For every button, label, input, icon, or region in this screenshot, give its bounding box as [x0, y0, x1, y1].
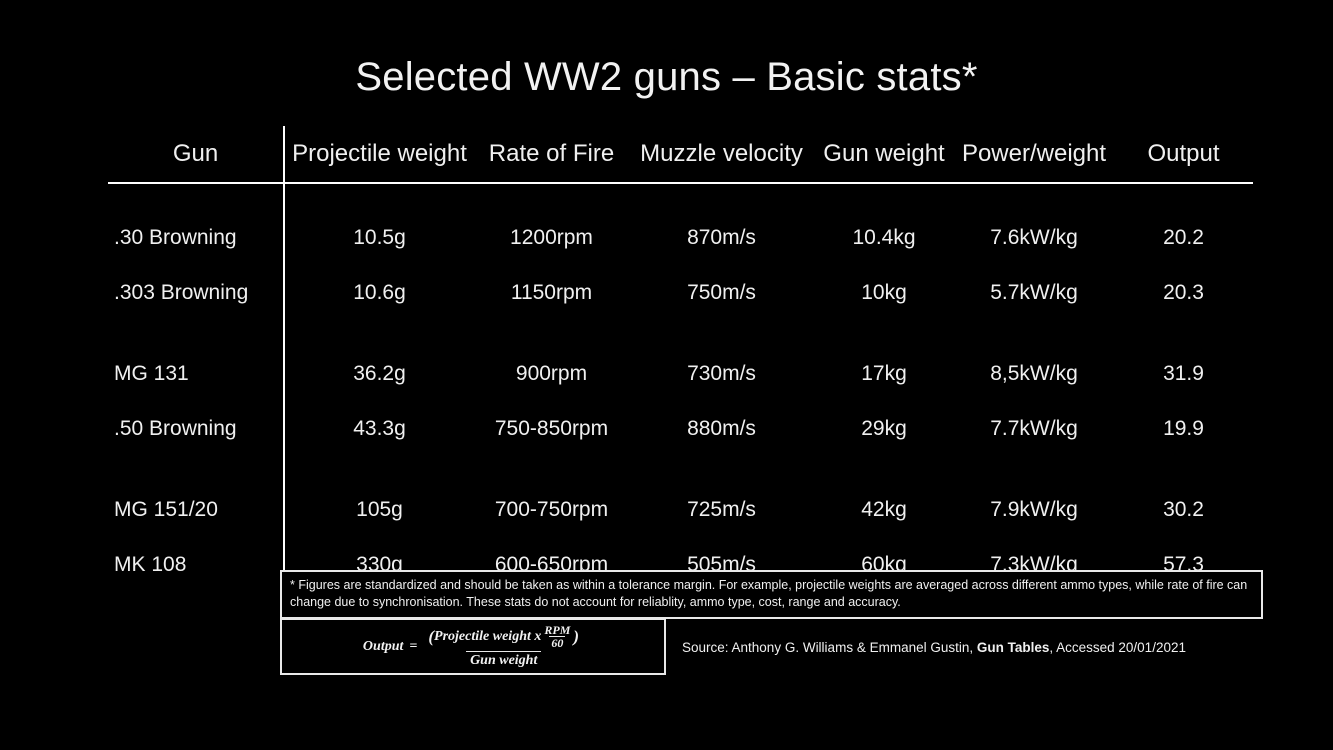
- cell-power-weight: 5.7kW/kg: [954, 265, 1114, 320]
- table-row: .303 Browning 10.6g 1150rpm 750m/s 10kg …: [108, 265, 1253, 320]
- table-spacer-row: [108, 183, 1253, 210]
- source-citation: Source: Anthony G. Williams & Emmanel Gu…: [682, 640, 1186, 655]
- formula-inner-denominator: 60: [549, 636, 565, 650]
- cell-projectile-weight: 10.5g: [284, 210, 474, 265]
- cell-gun-weight: 29kg: [814, 401, 954, 456]
- cell-muzzle-velocity: 725m/s: [629, 482, 814, 537]
- formula-inner-fraction: RPM 60: [542, 624, 572, 650]
- cell-gun-weight: 17kg: [814, 346, 954, 401]
- table-row: MG 131 36.2g 900rpm 730m/s 17kg 8,5kW/kg…: [108, 346, 1253, 401]
- column-header-muzzle-velocity: Muzzle velocity: [629, 126, 814, 183]
- cell-power-weight: 7.6kW/kg: [954, 210, 1114, 265]
- cell-muzzle-velocity: 870m/s: [629, 210, 814, 265]
- cell-power-weight: 7.9kW/kg: [954, 482, 1114, 537]
- cell-power-weight: 7.7kW/kg: [954, 401, 1114, 456]
- formula-numerator: ( Projectile weight x RPM 60 ): [424, 624, 583, 651]
- cell-output: 30.2: [1114, 482, 1253, 537]
- cell-gun: MG 131: [108, 346, 284, 401]
- formula-fraction: ( Projectile weight x RPM 60 ) Gun weigh…: [424, 624, 583, 669]
- cell-output: 20.3: [1114, 265, 1253, 320]
- footnote-text: * Figures are standardized and should be…: [290, 577, 1253, 611]
- cell-muzzle-velocity: 730m/s: [629, 346, 814, 401]
- source-work-title: Gun Tables: [977, 640, 1050, 655]
- table-row: .30 Browning 10.5g 1200rpm 870m/s 10.4kg…: [108, 210, 1253, 265]
- cell-rate-of-fire: 750-850rpm: [474, 401, 629, 456]
- cell-rate-of-fire: 1150rpm: [474, 265, 629, 320]
- page-title: Selected WW2 guns – Basic stats*: [0, 55, 1333, 100]
- cell-gun: .303 Browning: [108, 265, 284, 320]
- cell-gun: .50 Browning: [108, 401, 284, 456]
- output-formula: Output = ( Projectile weight x RPM 60 ) …: [363, 624, 583, 669]
- slide-canvas: Selected WW2 guns – Basic stats* Gun Pro…: [0, 0, 1333, 750]
- footnote-box: * Figures are standardized and should be…: [280, 570, 1263, 619]
- formula-lhs: Output: [363, 639, 403, 655]
- column-header-gun: Gun: [108, 126, 284, 183]
- table-head: Gun Projectile weight Rate of Fire Muzzl…: [108, 126, 1253, 183]
- formula-inner-numerator: RPM: [542, 624, 572, 637]
- formula-numerator-text: Projectile weight x: [434, 629, 541, 645]
- cell-gun-weight: 42kg: [814, 482, 954, 537]
- formula-box: Output = ( Projectile weight x RPM 60 ) …: [280, 618, 666, 675]
- cell-projectile-weight: 36.2g: [284, 346, 474, 401]
- cell-gun: MG 151/20: [108, 482, 284, 537]
- cell-gun: MK 108: [108, 537, 284, 592]
- table-row: MG 151/20 105g 700-750rpm 725m/s 42kg 7.…: [108, 482, 1253, 537]
- column-header-output: Output: [1114, 126, 1253, 183]
- cell-rate-of-fire: 700-750rpm: [474, 482, 629, 537]
- formula-equals-sign: =: [409, 639, 417, 655]
- column-header-gun-weight: Gun weight: [814, 126, 954, 183]
- cell-output: 20.2: [1114, 210, 1253, 265]
- stats-table-container: Gun Projectile weight Rate of Fire Muzzl…: [108, 126, 1253, 592]
- cell-power-weight: 8,5kW/kg: [954, 346, 1114, 401]
- cell-projectile-weight: 43.3g: [284, 401, 474, 456]
- cell-rate-of-fire: 1200rpm: [474, 210, 629, 265]
- table-spacer-row: [108, 456, 1253, 482]
- column-header-power-weight: Power/weight: [954, 126, 1114, 183]
- source-prefix: Source: Anthony G. Williams & Emmanel Gu…: [682, 640, 977, 655]
- cell-muzzle-velocity: 750m/s: [629, 265, 814, 320]
- table-header-row: Gun Projectile weight Rate of Fire Muzzl…: [108, 126, 1253, 183]
- cell-gun: .30 Browning: [108, 210, 284, 265]
- formula-denominator: Gun weight: [466, 651, 541, 669]
- table-row: .50 Browning 43.3g 750-850rpm 880m/s 29k…: [108, 401, 1253, 456]
- column-header-rate-of-fire: Rate of Fire: [474, 126, 629, 183]
- cell-output: 31.9: [1114, 346, 1253, 401]
- table-spacer-row: [108, 320, 1253, 346]
- cell-gun-weight: 10kg: [814, 265, 954, 320]
- column-header-projectile-weight: Projectile weight: [284, 126, 474, 183]
- cell-output: 19.9: [1114, 401, 1253, 456]
- stats-table: Gun Projectile weight Rate of Fire Muzzl…: [108, 126, 1253, 592]
- source-suffix: , Accessed 20/01/2021: [1049, 640, 1186, 655]
- cell-muzzle-velocity: 880m/s: [629, 401, 814, 456]
- cell-rate-of-fire: 900rpm: [474, 346, 629, 401]
- cell-projectile-weight: 10.6g: [284, 265, 474, 320]
- cell-gun-weight: 10.4kg: [814, 210, 954, 265]
- cell-projectile-weight: 105g: [284, 482, 474, 537]
- table-body: .30 Browning 10.5g 1200rpm 870m/s 10.4kg…: [108, 183, 1253, 592]
- formula-close-paren: ): [573, 627, 579, 647]
